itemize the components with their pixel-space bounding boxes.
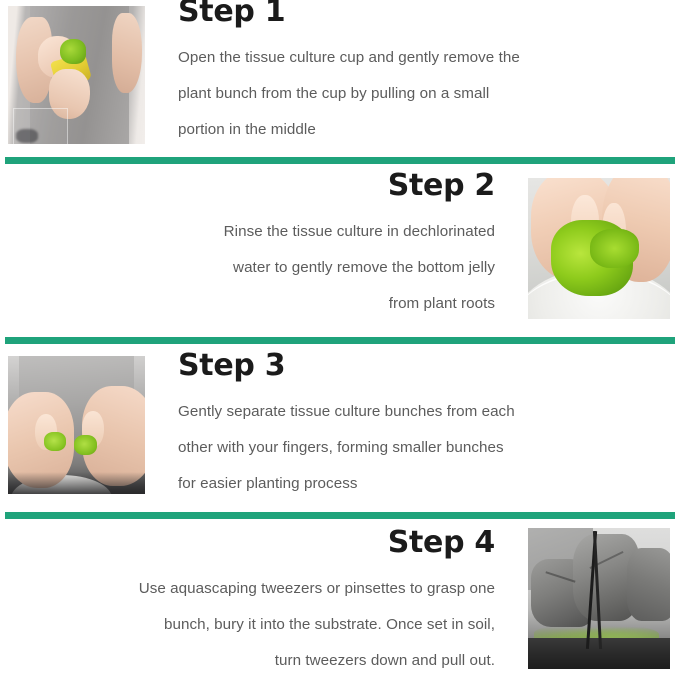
step-2-text-block: Step 2 Rinse the tissue culture in dechl… xyxy=(40,170,495,322)
step-4-body-line: bunch, bury it into the substrate. Once … xyxy=(30,607,495,643)
step-4-body-line: Use aquascaping tweezers or pinsettes to… xyxy=(30,571,495,607)
step-2-body-line: water to gently remove the bottom jelly xyxy=(40,250,495,286)
step-3-body: Gently separate tissue culture bunches f… xyxy=(178,394,658,502)
divider-3 xyxy=(5,512,675,519)
step-row-4: Step 4 Use aquascaping tweezers or pinse… xyxy=(0,519,679,678)
step-4-body-line: turn tweezers down and pull out. xyxy=(30,643,495,678)
step-4-body: Use aquascaping tweezers or pinsettes to… xyxy=(30,571,495,678)
step-4-title: Step 4 xyxy=(30,527,495,559)
step-1-body-line: Open the tissue culture cup and gently r… xyxy=(178,40,648,76)
step-4-text-block: Step 4 Use aquascaping tweezers or pinse… xyxy=(30,527,495,678)
step-2-image xyxy=(528,178,670,319)
step-3-body-line: for easier planting process xyxy=(178,466,658,502)
step-1-body: Open the tissue culture cup and gently r… xyxy=(178,40,648,148)
step-1-text-block: Step 1 Open the tissue culture cup and g… xyxy=(178,0,648,148)
step-1-image xyxy=(8,6,145,144)
instruction-infographic: Step 1 Open the tissue culture cup and g… xyxy=(0,0,679,678)
step-row-3: Step 3 Gently separate tissue culture bu… xyxy=(0,344,679,512)
step-3-text-block: Step 3 Gently separate tissue culture bu… xyxy=(178,350,658,502)
step-3-title: Step 3 xyxy=(178,350,658,382)
step-2-body-line: from plant roots xyxy=(40,286,495,322)
step-2-body: Rinse the tissue culture in dechlorinate… xyxy=(40,214,495,322)
step-row-2: Step 2 Rinse the tissue culture in dechl… xyxy=(0,164,679,337)
step-3-image xyxy=(8,356,145,494)
step-4-image xyxy=(528,528,670,669)
step-2-body-line: Rinse the tissue culture in dechlorinate… xyxy=(40,214,495,250)
step-1-body-line: portion in the middle xyxy=(178,112,648,148)
step-1-body-line: plant bunch from the cup by pulling on a… xyxy=(178,76,648,112)
divider-2 xyxy=(5,337,675,344)
step-1-title: Step 1 xyxy=(178,0,648,28)
step-row-1: Step 1 Open the tissue culture cup and g… xyxy=(0,0,679,157)
step-3-body-line: Gently separate tissue culture bunches f… xyxy=(178,394,658,430)
step-3-body-line: other with your fingers, forming smaller… xyxy=(178,430,658,466)
step-2-title: Step 2 xyxy=(40,170,495,202)
divider-1 xyxy=(5,157,675,164)
